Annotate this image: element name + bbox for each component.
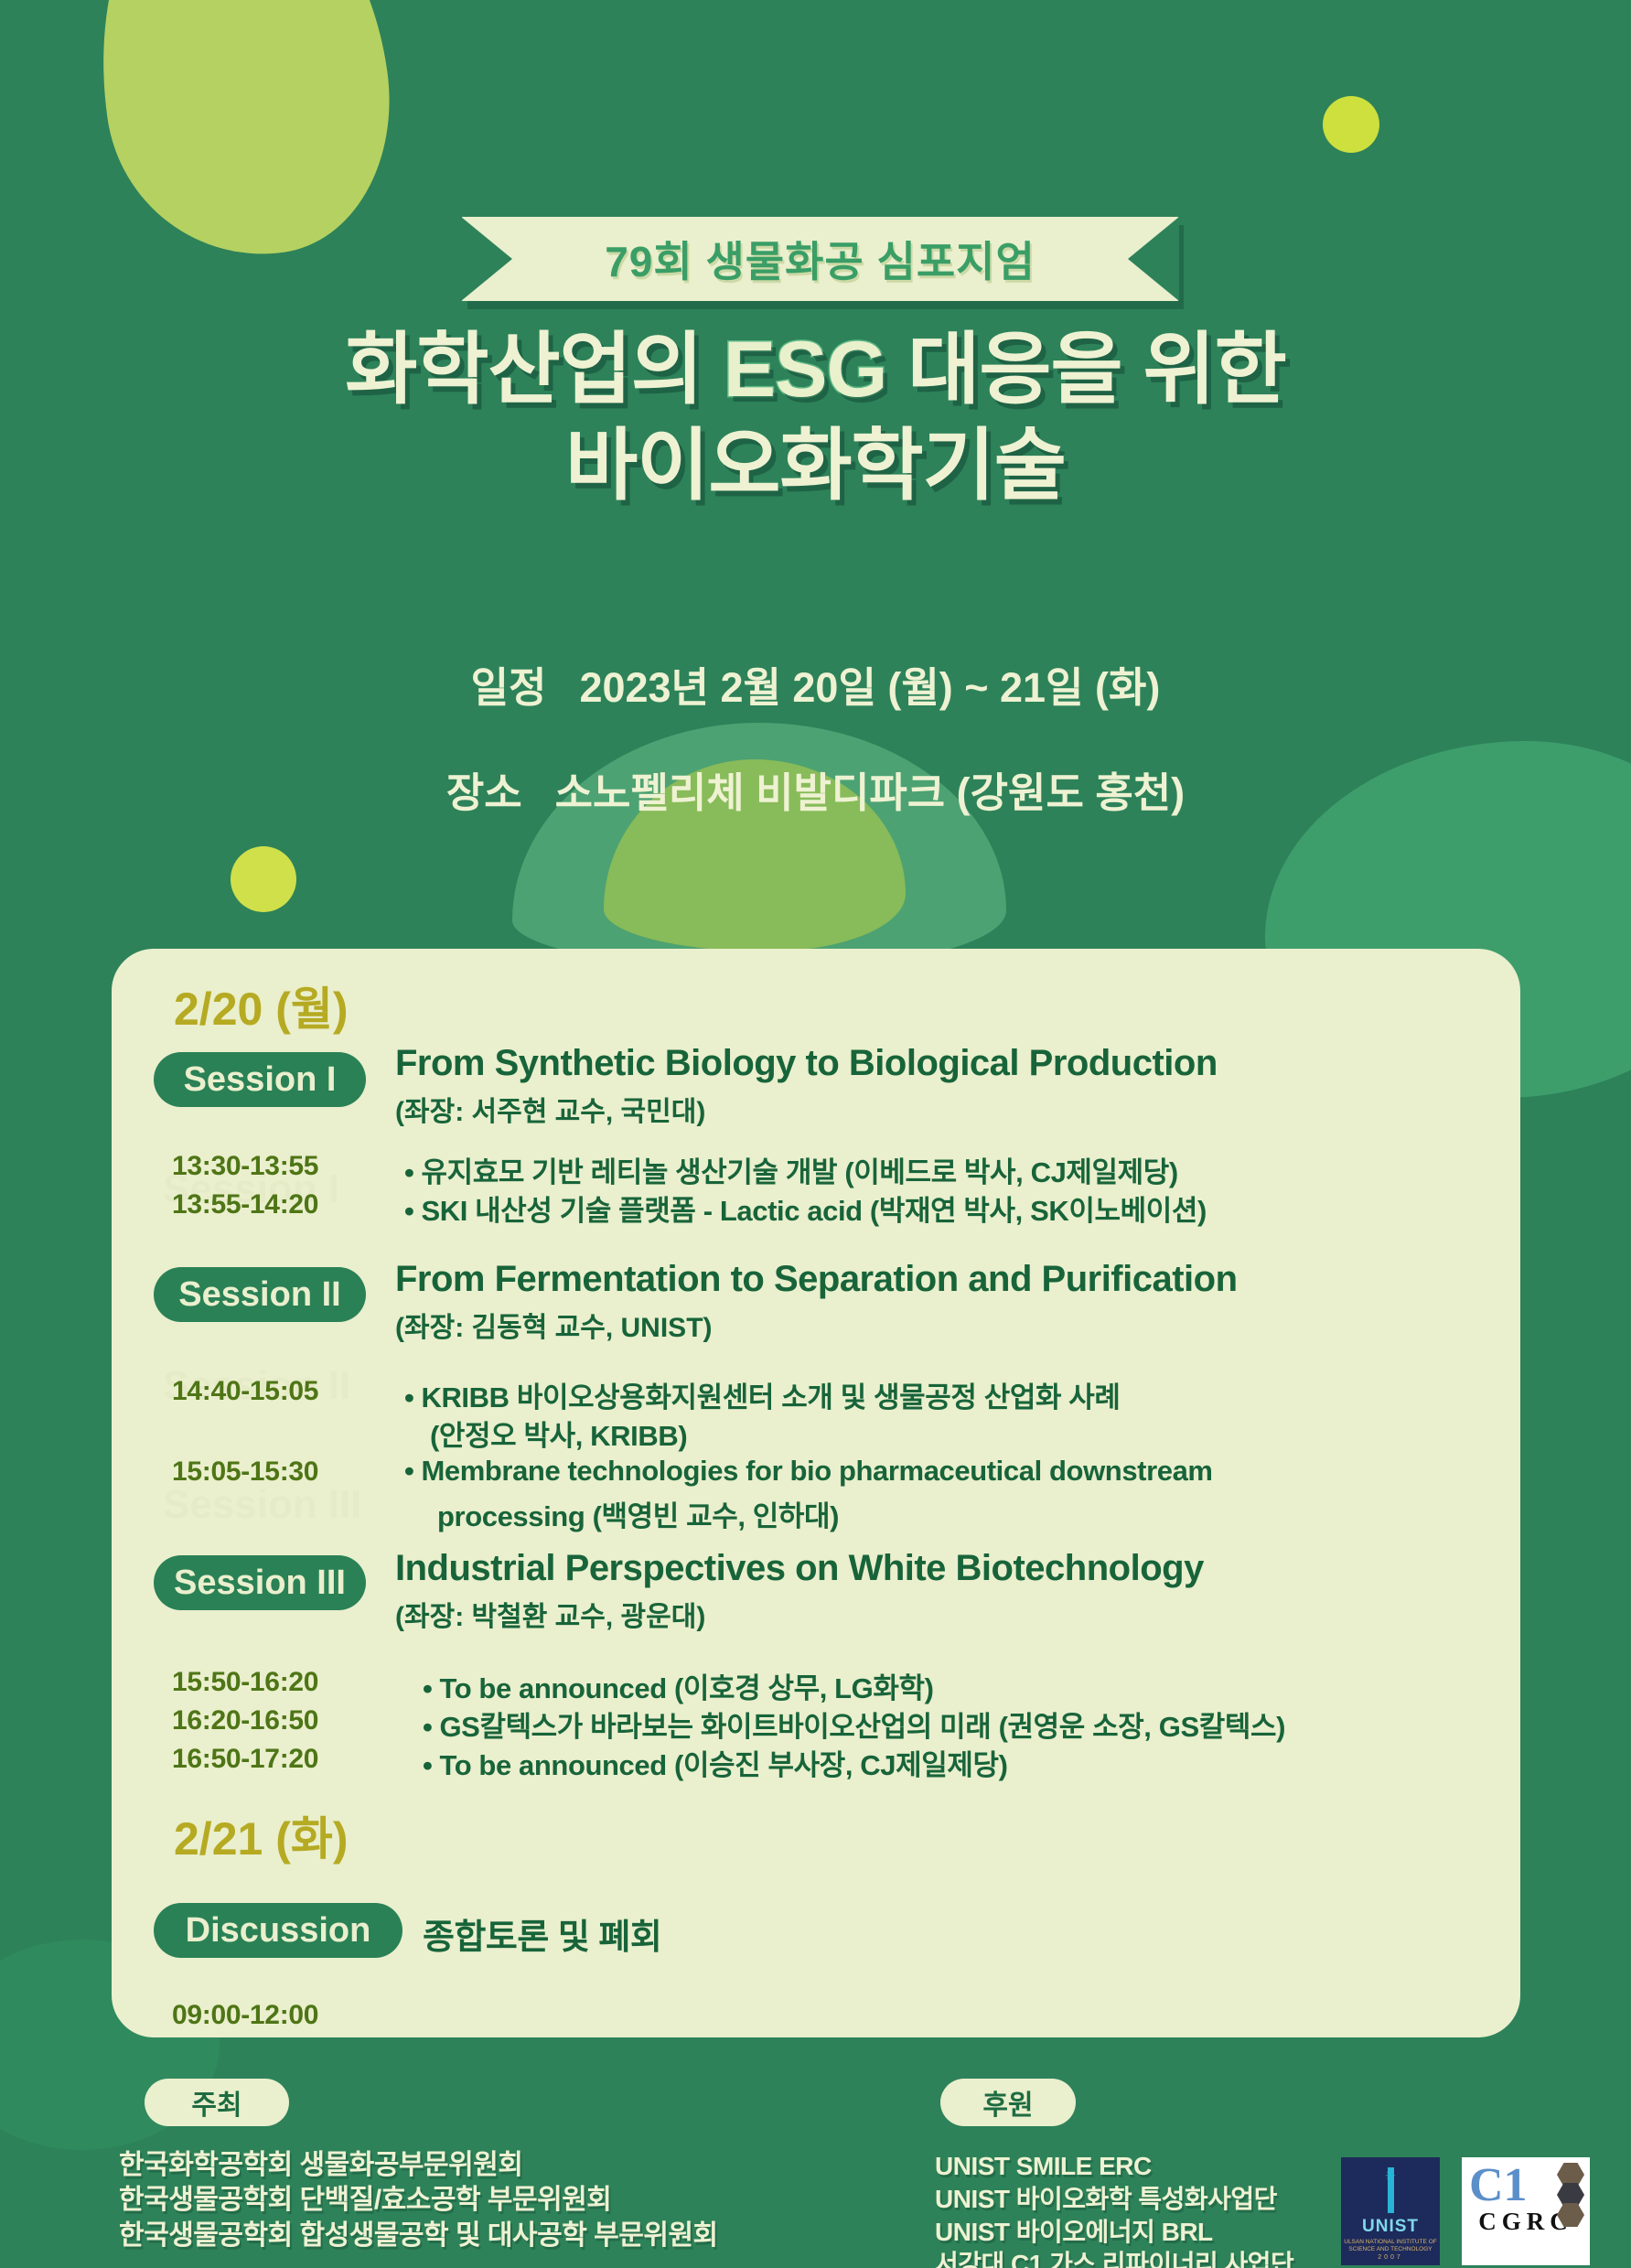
sponsor-label-pill: 후원 bbox=[940, 2079, 1076, 2126]
talk-time: 16:20-16:50 bbox=[172, 1705, 318, 1736]
ribbon-notch-right bbox=[1128, 217, 1179, 301]
hexagon-icon-group bbox=[1557, 2163, 1584, 2223]
day-1-label: 2/20 (월) bbox=[174, 973, 349, 1038]
title-line-1: 화학산업의 ESG 대응을 위한 bbox=[0, 322, 1631, 418]
session-title-3: Industrial Perspectives on White Biotech… bbox=[395, 1548, 1204, 1589]
talk-time: 13:30-13:55 bbox=[172, 1151, 318, 1182]
list-item: UNIST 바이오화학 특성화사업단 bbox=[935, 2183, 1293, 2216]
bullet-icon: • bbox=[423, 1749, 432, 1781]
talk-text: •SKI 내산성 기술 플랫폼 - Lactic acid (박재연 박사, S… bbox=[404, 1188, 1207, 1229]
talk-text: •KRIBB 바이오상용화지원센터 소개 및 생물공정 산업화 사례 bbox=[404, 1374, 1121, 1415]
list-item: UNIST 바이오에너지 BRL bbox=[935, 2216, 1293, 2249]
host-label-pill: 주최 bbox=[145, 2079, 289, 2126]
star-icon: ✳ bbox=[1385, 2168, 1396, 2184]
talk-text-cont: (안정오 박사, KRIBB) bbox=[430, 1413, 687, 1454]
session-pill-3: Session III bbox=[154, 1555, 366, 1610]
talk-text-cont: processing (백영빈 교수, 인하대) bbox=[437, 1493, 839, 1534]
title-accent-esg: ESG bbox=[724, 326, 887, 414]
bullet-icon: • bbox=[423, 1672, 432, 1704]
title-line1-after: 대응을 위한 bbox=[886, 326, 1285, 414]
bullet-icon: • bbox=[404, 1455, 413, 1487]
bullet-icon: • bbox=[404, 1156, 413, 1188]
decorative-blob-top-left bbox=[75, 0, 411, 274]
session-title-1: From Synthetic Biology to Biological Pro… bbox=[395, 1043, 1218, 1084]
title-line-2: 바이오화학기술 bbox=[0, 418, 1631, 514]
decorative-dot-top-right bbox=[1323, 96, 1379, 153]
ribbon-banner: 79회 생물화공 심포지엄 bbox=[462, 217, 1178, 301]
talk-text: •유지효모 기반 레티놀 생산기술 개발 (이베드로 박사, CJ제일제당) bbox=[404, 1149, 1178, 1190]
day-2-label: 2/21 (화) bbox=[174, 1802, 349, 1868]
bullet-icon: • bbox=[423, 1711, 432, 1743]
list-item: UNIST SMILE ERC bbox=[935, 2150, 1293, 2183]
date-label: 일정 bbox=[471, 664, 547, 711]
event-date-row: 일정2023년 2월 20일 (월) ~ 21일 (화) bbox=[0, 654, 1631, 714]
page-title: 화학산업의 ESG 대응을 위한 바이오화학기술 bbox=[0, 322, 1631, 514]
session-pill-1: Session I bbox=[154, 1052, 366, 1107]
session-chair-3: (좌장: 박철환 교수, 광운대) bbox=[395, 1594, 705, 1634]
event-venue-row: 장소소노펠리체 비발디파크 (강원도 홍천) bbox=[0, 759, 1631, 819]
unist-logo: ✳ UNIST ULSAN NATIONAL INSTITUTE OF SCIE… bbox=[1341, 2157, 1440, 2265]
decorative-dot-left bbox=[231, 846, 296, 912]
talk-text: •To be announced (이호경 상무, LG화학) bbox=[423, 1665, 934, 1706]
bullet-icon: • bbox=[404, 1195, 413, 1227]
unist-logo-name: UNIST bbox=[1362, 2217, 1419, 2237]
talk-text: •Membrane technologies for bio pharmaceu… bbox=[404, 1455, 1213, 1488]
talk-text: •GS칼텍스가 바라보는 화이트바이오산업의 미래 (권영운 소장, GS칼텍스… bbox=[423, 1704, 1285, 1745]
discussion-text: 종합토론 및 폐회 bbox=[423, 1908, 661, 1959]
cgrc-logo: C1 CGRC bbox=[1462, 2157, 1590, 2265]
session-chair-1: (좌장: 서주현 교수, 국민대) bbox=[395, 1089, 705, 1129]
list-item: 한국화학공학회 생물화공부문위원회 bbox=[119, 2148, 718, 2183]
unist-logo-subtitle: ULSAN NATIONAL INSTITUTE OF SCIENCE AND … bbox=[1341, 2239, 1440, 2253]
talk-time: 15:50-16:20 bbox=[172, 1667, 318, 1698]
sponsor-list: UNIST SMILE ERC UNIST 바이오화학 특성화사업단 UNIST… bbox=[935, 2150, 1293, 2268]
session-title-2: From Fermentation to Separation and Puri… bbox=[395, 1259, 1238, 1300]
bullet-icon: • bbox=[404, 1381, 413, 1413]
ribbon-label: 79회 생물화공 심포지엄 bbox=[605, 229, 1035, 289]
venue-value: 소노펠리체 비발디파크 (강원도 홍천) bbox=[555, 769, 1185, 816]
list-item: 한국생물공학회 단백질/효소공학 부문위원회 bbox=[119, 2183, 718, 2218]
venue-label: 장소 bbox=[446, 769, 522, 816]
unist-logo-year: 2007 bbox=[1378, 2254, 1403, 2261]
ribbon-notch-left bbox=[461, 217, 512, 301]
poster-root: 79회 생물화공 심포지엄 화학산업의 ESG 대응을 위한 바이오화학기술 일… bbox=[0, 0, 1631, 2268]
talk-time: 16:50-17:20 bbox=[172, 1744, 318, 1775]
talk-text: •To be announced (이승진 부사장, CJ제일제당) bbox=[423, 1742, 1008, 1783]
discussion-time: 09:00-12:00 bbox=[172, 2000, 318, 2031]
title-line1-before: 화학산업의 bbox=[345, 326, 724, 414]
list-item: 한국생물공학회 합성생물공학 및 대사공학 부문위원회 bbox=[119, 2219, 718, 2253]
talk-time: 13:55-14:20 bbox=[172, 1189, 318, 1220]
discussion-pill: Discussion bbox=[154, 1903, 402, 1958]
session-pill-2: Session II bbox=[154, 1267, 366, 1322]
host-list: 한국화학공학회 생물화공부문위원회 한국생물공학회 단백질/효소공학 부문위원회… bbox=[119, 2148, 718, 2253]
date-value: 2023년 2월 20일 (월) ~ 21일 (화) bbox=[579, 664, 1160, 711]
talk-time: 14:40-15:05 bbox=[172, 1376, 318, 1407]
talk-time: 15:05-15:30 bbox=[172, 1456, 318, 1488]
session-chair-2: (좌장: 김동혁 교수, UNIST) bbox=[395, 1305, 713, 1345]
list-item: 서강대 C1 가스 리파이너리 사업단 bbox=[935, 2248, 1293, 2268]
